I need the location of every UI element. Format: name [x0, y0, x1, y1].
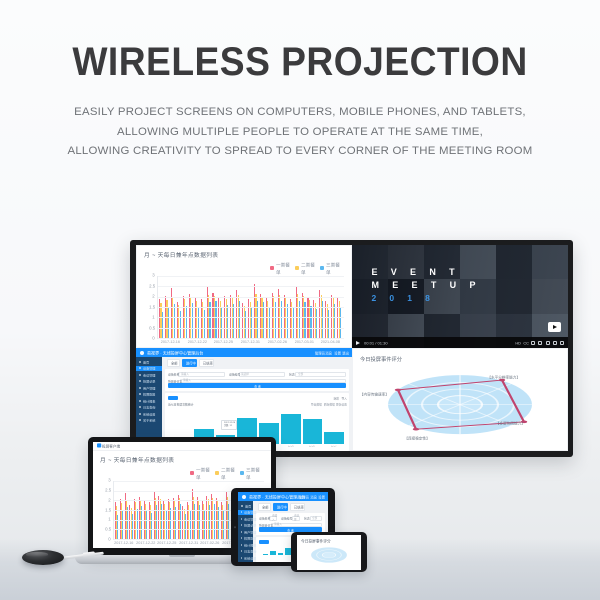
admin-card-action-0[interactable]: 新增	[334, 396, 339, 401]
radar-axis-label-1: 【内容传输速率】	[364, 392, 385, 396]
filter-field-label: 设备编号	[229, 372, 240, 377]
sidebar-item-label: 权限配置	[244, 536, 256, 541]
monitor-device: 月 ~ 天每日兼年点数据列表 一类餐单二类餐单三类餐单 32.521.510.5…	[130, 240, 573, 457]
radar-axis-label-text: 【内容传输速率】	[360, 391, 389, 397]
filter-field-0[interactable]: 设备名称请输入	[168, 372, 225, 377]
sidebar-item-label: 统计报表	[143, 398, 155, 403]
chart-bar	[180, 311, 181, 338]
sidebar-item-7[interactable]: 日志查询	[139, 405, 162, 411]
sidebar-item-label: 首页	[245, 503, 251, 508]
chart-bar	[151, 513, 152, 539]
sidebar-item-icon	[139, 387, 141, 389]
chart-bar	[127, 507, 128, 539]
filter-field-label: 状态	[289, 372, 295, 377]
video-title-line-2: M E E T U P	[371, 279, 480, 292]
hero-subtitle-line-3: ALLOWING CREATIVITY TO SPREAD TO EVERY C…	[0, 142, 600, 162]
sidebar-item-9[interactable]: 关于系统	[139, 418, 162, 424]
radar-chart-area: 【水平分辨率能力】【内容传输速率】【多屏协同能力】【连接稳定性】	[360, 362, 560, 444]
admin-chart-bar	[270, 551, 275, 555]
sidebar-item-icon	[139, 374, 141, 376]
chart-bar	[186, 306, 187, 338]
y-tick-label: 1	[109, 517, 111, 523]
legend-label: 一类餐单	[196, 466, 213, 481]
sidebar-item-icon	[241, 511, 242, 513]
chart-bar	[166, 511, 167, 539]
sidebar-item-label: 设备管理	[244, 510, 256, 515]
sidebar-item-1[interactable]: 设备管理	[136, 366, 162, 372]
admin-topbar-item-2[interactable]: 设置	[334, 350, 341, 355]
chart-bar	[218, 507, 219, 539]
filter-field-label: 所属会议室	[259, 522, 273, 527]
chart-bar	[204, 310, 205, 338]
legend-label: 三类餐单	[246, 466, 263, 481]
tablet-admin-topbar-actions[interactable]: 管理员消息设置	[300, 495, 324, 499]
gridline	[158, 328, 344, 329]
filter-field-input[interactable]: 请输入	[271, 523, 322, 528]
legend-swatch	[295, 266, 299, 270]
legend-label: 二类餐单	[301, 261, 318, 276]
admin-card-subtitle: 近七日投屏次数统计	[168, 401, 194, 406]
admin-stats-header: 新增导入	[168, 396, 346, 400]
chart-bar	[117, 515, 118, 539]
phone-radar-area	[301, 543, 357, 567]
tab-2[interactable]: 已结束	[199, 359, 214, 367]
gridline	[158, 307, 344, 308]
legend-item-1[interactable]: 二类餐单	[215, 468, 233, 478]
admin-topbar-item-0[interactable]: 管理员	[314, 350, 324, 355]
tab-label: 进行中	[186, 360, 196, 365]
admin-chart-bar	[263, 554, 268, 555]
admin-filter-card: 设备名称请输入设备编号请选择状态全部所属会议室请输入 查 询	[165, 369, 349, 391]
dongle-puck	[22, 550, 64, 565]
hero-subtitle-line-2: ALLOWING MULTIPLE PEOPLE TO OPERATE AT T…	[0, 123, 600, 143]
primary-action-pill[interactable]	[168, 396, 178, 400]
wireless-dongle-device	[22, 545, 126, 573]
brand-logo-icon	[140, 351, 144, 355]
tablet-camera-icon	[234, 526, 236, 528]
radar-axis-label-text: 【连接稳定性】	[404, 435, 429, 441]
sidebar-item-label: 关于系统	[143, 418, 155, 423]
legend-item-1[interactable]: 二类餐单	[295, 263, 313, 273]
tab-0[interactable]: 全部	[167, 359, 180, 367]
tablet-admin-tabs[interactable]: 全部进行中已结束	[256, 503, 325, 511]
video-title-line-1: E V E N T	[371, 266, 480, 279]
chart-bar	[175, 507, 176, 539]
y-tick-label: 0.5	[105, 526, 111, 532]
sidebar-item-label: 统计报表	[244, 542, 256, 547]
gridline	[158, 286, 344, 287]
sidebar-item-icon	[139, 367, 141, 369]
chart-bar	[340, 307, 341, 338]
tablet-brand-logo-icon	[242, 495, 246, 499]
cc-icon[interactable]: CC	[523, 340, 529, 345]
video-title-overlay: E V E N T M E E T U P 2 0 1 8	[371, 266, 480, 305]
tablet-admin-sidebar[interactable]: 首页设备管理会议管理投屏记录用户管理权限配置统计报表日志查询系统设置	[238, 501, 253, 562]
pip-icon[interactable]	[553, 341, 557, 345]
admin-chart-bar	[324, 432, 344, 444]
hero-subtitle: EASILY PROJECT SCREENS ON COMPUTERS, MOB…	[0, 103, 600, 162]
chart-bar	[245, 311, 246, 338]
panel-admin-dashboard: 易视界 · 无线投屏中心管理后台 管理员消息设置退出 首页设备管理会议管理投屏记…	[136, 348, 352, 451]
sidebar-item-icon	[139, 380, 141, 382]
sidebar-item-8[interactable]: 系统设置	[139, 411, 162, 417]
gridline	[114, 481, 264, 482]
sidebar-item-icon	[241, 550, 242, 552]
video-timestamp: 00:01 / 01:30	[364, 340, 388, 345]
tab-label: 全部	[171, 360, 177, 365]
settings-icon[interactable]	[538, 341, 542, 345]
sidebar-item-label: 用户管理	[143, 385, 155, 390]
admin-topbar-actions[interactable]: 管理员消息设置退出	[316, 351, 348, 355]
filter-field-placeholder: 请输入	[274, 523, 282, 527]
tablet-admin-filter-form[interactable]: 设备名称请输入设备编号请选择状态全部所属会议室请输入	[259, 516, 322, 527]
tab-2[interactable]: 已结束	[290, 503, 305, 511]
sidebar-item-icon	[241, 518, 242, 520]
sidebar-item-4[interactable]: 用户管理	[241, 529, 253, 535]
laptop-app-titlebar: 投屏客户端	[93, 442, 271, 451]
sidebar-item-label: 系统设置	[244, 555, 256, 560]
video-brand-logo-icon	[548, 322, 561, 332]
sidebar-item-icon	[241, 557, 242, 559]
y-tick-label: 2.5	[105, 487, 111, 493]
admin-card-right-label-2[interactable]: 更多设置	[336, 402, 347, 407]
admin-chart-label: 12-27	[320, 446, 347, 449]
chart-bar	[174, 304, 175, 338]
video-control-bar[interactable]: 00:01 / 01:30 HD CC	[352, 337, 568, 348]
bar-chart-legend: 一类餐单二类餐单三类餐单	[144, 263, 344, 273]
tablet-admin-topbar-item-2[interactable]: 设置	[318, 494, 325, 499]
chart-bar	[190, 511, 191, 539]
y-tick-label: 1.5	[149, 304, 155, 310]
legend-label: 一类餐单	[276, 261, 293, 276]
laptop-bar-chart-legend: 一类餐单二类餐单三类餐单	[100, 468, 264, 478]
sidebar-item-label: 用户管理	[244, 529, 256, 534]
filter-field-label: 设备名称	[259, 516, 270, 521]
sidebar-item-icon	[139, 419, 141, 421]
filter-field-label: 设备编号	[281, 516, 292, 521]
legend-item-0[interactable]: 一类餐单	[270, 263, 288, 273]
chart-bar	[168, 307, 169, 338]
phone-device: 今日投屏事件评分	[291, 532, 367, 572]
filter-field-input[interactable]: 请选择	[292, 516, 300, 521]
laptop-bar-chart-y-axis: 32.521.510.50	[100, 481, 113, 540]
admin-chart-bar	[281, 414, 301, 444]
chart-bar	[310, 306, 311, 338]
tablet-primary-action-pill[interactable]	[259, 540, 269, 544]
legend-label: 三类餐单	[326, 261, 343, 276]
y-tick-label: 3	[109, 477, 111, 483]
admin-topbar: 易视界 · 无线投屏中心管理后台 管理员消息设置退出	[136, 348, 352, 357]
sidebar-item-label: 日志查询	[143, 405, 155, 410]
filter-field-placeholder: 全部	[298, 372, 303, 376]
chart-bar	[227, 305, 228, 338]
y-tick-label: 2.5	[149, 283, 155, 289]
admin-tabs[interactable]: 全部进行中已结束	[165, 359, 349, 367]
chart-bar	[122, 510, 123, 539]
admin-brand: 易视界 · 无线投屏中心管理后台	[147, 350, 203, 356]
admin-card-right-labels[interactable]: 导出数据刷新数据更多设置	[312, 402, 346, 406]
chart-tooltip: 2017-12-26 次数: 12	[221, 420, 236, 429]
filter-field-placeholder: 请选择	[294, 514, 300, 522]
tablet-admin-brand: 易视界 · 无线投屏中心管理后台	[249, 494, 305, 500]
filter-field-1[interactable]: 设备编号请选择	[229, 372, 286, 377]
chart-bar	[334, 304, 335, 338]
chart-bar	[316, 309, 317, 338]
chart-bar	[146, 510, 147, 539]
legend-swatch	[190, 471, 194, 475]
sidebar-item-icon	[139, 393, 141, 395]
sidebar-item-3[interactable]: 投屏记录	[139, 379, 162, 385]
tab-1[interactable]: 进行中	[182, 359, 197, 367]
sidebar-item-icon	[241, 505, 243, 507]
admin-chart-bar	[303, 419, 323, 444]
sidebar-item-3[interactable]: 投屏记录	[241, 523, 253, 529]
filter-field-placeholder: 请输入	[181, 372, 189, 376]
sidebar-item-2[interactable]: 会议管理	[139, 372, 162, 378]
admin-chart-bar	[285, 548, 290, 555]
chart-bar	[137, 509, 138, 539]
chart-bar	[141, 506, 142, 539]
filter-field-1[interactable]: 设备编号请选择	[281, 516, 299, 521]
laptop-app-title: 投屏客户端	[102, 443, 120, 449]
panel-radar-chart: 今日投屏事件评分	[352, 348, 568, 451]
radar-svg	[360, 362, 560, 444]
sidebar-item-label: 会议管理	[244, 516, 256, 521]
sidebar-item-label: 系统设置	[143, 411, 155, 416]
y-tick-label: 1	[153, 314, 155, 320]
video-title-line-3: 2 0 1 8	[371, 292, 480, 305]
sidebar-item-label: 日志查询	[244, 549, 256, 554]
sidebar-item-label: 权限配置	[143, 392, 155, 397]
sidebar-item-6[interactable]: 统计报表	[139, 398, 162, 404]
filter-field-label: 设备名称	[168, 372, 179, 377]
y-tick-label: 3	[153, 272, 155, 278]
filter-field-placeholder: 全部	[312, 516, 317, 520]
sidebar-item-1[interactable]: 设备管理	[238, 510, 253, 516]
tab-0[interactable]: 全部	[258, 503, 271, 511]
device-scene: 月 ~ 天每日兼年点数据列表 一类餐单二类餐单三类餐单 32.521.510.5…	[0, 215, 600, 600]
chart-bar	[192, 303, 193, 338]
admin-stats-subtitle-row: 近七日投屏次数统计 导出数据刷新数据更多设置	[168, 402, 346, 406]
tablet-admin-topbar: 易视界 · 无线投屏中心管理后台 管理员消息设置	[238, 492, 328, 501]
sidebar-item-0[interactable]: 首页	[139, 359, 162, 365]
chart-bar	[233, 304, 234, 338]
sidebar-item-icon	[241, 531, 242, 533]
chart-bar	[185, 514, 186, 539]
gridline	[158, 338, 344, 339]
radar-axis-label-2: 【多屏协同能力】	[500, 421, 521, 425]
legend-item-2[interactable]: 三类餐单	[320, 263, 338, 273]
tab-label: 进行中	[277, 504, 287, 509]
search-button[interactable]: 查 询	[168, 383, 346, 388]
chart-bar	[328, 310, 329, 338]
legend-item-2[interactable]: 三类餐单	[240, 468, 258, 478]
tab-1[interactable]: 进行中	[273, 503, 288, 511]
fullscreen-icon[interactable]	[560, 341, 564, 345]
laptop-notch	[169, 555, 195, 557]
chart-bar	[204, 510, 205, 539]
sidebar-item-icon	[241, 544, 242, 546]
gridline	[158, 317, 344, 318]
x-tick-label: 2021-04-08	[312, 340, 349, 344]
sidebar-item-icon	[241, 524, 242, 526]
hero-subtitle-line-1: EASILY PROJECT SCREENS ON COMPUTERS, MOB…	[0, 103, 600, 123]
tooltip-value: 次数: 12	[224, 425, 235, 428]
admin-card-right-label-0[interactable]: 导出数据	[311, 402, 322, 407]
bar-chart-plot: 32.521.510.50	[144, 276, 344, 339]
admin-topbar-item-1[interactable]: 消息	[326, 350, 333, 355]
panel-video-player[interactable]: E V E N T M E E T U P 2 0 1 8 00:01 / 01…	[352, 245, 568, 348]
radar-axis-label-3: 【连接稳定性】	[408, 436, 426, 440]
chart-bar	[198, 307, 199, 338]
volume-icon[interactable]	[531, 341, 535, 345]
chart-bar	[287, 304, 288, 338]
dongle-usb-plug	[83, 551, 96, 557]
sidebar-item-label: 首页	[143, 359, 149, 364]
y-tick-label: 2	[109, 497, 111, 503]
legend-swatch	[320, 266, 324, 270]
bar-chart-area	[157, 276, 344, 339]
sidebar-item-7[interactable]: 日志查询	[241, 549, 253, 555]
tab-label: 已结束	[294, 504, 304, 509]
tablet-search-button-label: 查 询	[287, 527, 293, 532]
filter-field-input[interactable]: 全部	[295, 372, 346, 377]
tablet-admin-topbar-item-0[interactable]: 管理员	[299, 494, 309, 499]
sidebar-item-5[interactable]: 权限配置	[139, 392, 162, 398]
filter-field-placeholder: 请选择	[241, 372, 249, 376]
filter-field-3[interactable]: 所属会议室请输入	[168, 379, 346, 384]
bar-chart-x-axis: 2017-12-162017-12-222017-12-252017-12-31…	[157, 340, 344, 343]
admin-chart-bar	[278, 553, 283, 555]
phone-screen: 今日投屏事件评分	[297, 535, 361, 570]
legend-item-0[interactable]: 一类餐单	[190, 468, 208, 478]
sidebar-item-icon	[241, 537, 242, 539]
admin-card-action-1[interactable]: 导入	[341, 396, 346, 401]
chart-bar	[162, 312, 163, 338]
sidebar-item-icon	[139, 406, 141, 408]
radar-axis-label-text: 【多屏协同能力】	[496, 420, 525, 426]
legend-swatch	[270, 266, 274, 270]
tab-label: 全部	[262, 504, 268, 509]
sidebar-item-5[interactable]: 权限配置	[241, 536, 253, 542]
sidebar-item-icon	[139, 413, 141, 415]
panel-bar-chart: 月 ~ 天每日兼年点数据列表 一类餐单二类餐单三类餐单 32.521.510.5…	[136, 245, 352, 348]
sidebar-item-label: 投屏记录	[244, 523, 256, 528]
legend-swatch	[215, 471, 219, 475]
chart-bar	[132, 514, 133, 539]
sidebar-item-icon	[139, 400, 141, 402]
phone-radar-svg	[301, 543, 357, 567]
play-icon[interactable]	[356, 341, 360, 345]
theater-icon[interactable]	[546, 341, 550, 345]
filter-field-2[interactable]: 状态全部	[289, 372, 346, 377]
monitor-screen: 月 ~ 天每日兼年点数据列表 一类餐单二类餐单三类餐单 32.521.510.5…	[136, 245, 568, 451]
sidebar-item-2[interactable]: 会议管理	[241, 516, 253, 522]
legend-label: 二类餐单	[221, 466, 238, 481]
filter-field-placeholder: 请输入	[272, 514, 278, 522]
bar-chart-title: 月 ~ 天每日兼年点数据列表	[144, 252, 352, 263]
sidebar-item-label: 投屏记录	[143, 379, 155, 384]
chart-bar	[221, 308, 222, 338]
chart-bar	[269, 307, 270, 338]
radar-axis-label-text: 【水平分辨率能力】	[487, 374, 520, 380]
hd-icon[interactable]: HD	[516, 340, 522, 345]
filter-field-input[interactable]: 全部	[310, 516, 322, 521]
filter-field-label: 所属会议室	[168, 378, 182, 383]
filter-field-2[interactable]: 状态全部	[304, 516, 322, 521]
admin-topbar-item-3[interactable]: 退出	[342, 350, 349, 355]
radar-axis-label-0: 【水平分辨率能力】	[492, 375, 515, 379]
filter-field-input[interactable]: 请输入	[178, 372, 224, 377]
chart-bar	[251, 308, 252, 338]
admin-card-right-label-1[interactable]: 刷新数据	[323, 402, 334, 407]
search-button-label: 查 询	[254, 383, 260, 388]
filter-field-3[interactable]: 所属会议室请输入	[259, 523, 322, 528]
admin-stats-actions[interactable]: 新增导入	[334, 396, 346, 400]
phone-notch	[321, 532, 337, 535]
chart-bar	[170, 508, 171, 539]
filter-field-label: 状态	[304, 516, 310, 521]
hero-section: WIRELESS PROJECTION EASILY PROJECT SCREE…	[0, 0, 600, 162]
chart-bar	[293, 308, 294, 338]
filter-field-input[interactable]: 请选择	[239, 372, 285, 377]
video-control-icons[interactable]: HD CC	[516, 341, 564, 345]
sidebar-item-icon	[139, 361, 141, 363]
sidebar-item-6[interactable]: 统计报表	[241, 542, 253, 548]
sidebar-item-label: 设备管理	[143, 366, 155, 371]
filter-field-0[interactable]: 设备名称请输入	[259, 516, 277, 521]
y-tick-label: 2	[153, 293, 155, 299]
sidebar-item-8[interactable]: 系统设置	[241, 555, 253, 561]
filter-field-placeholder: 请输入	[183, 379, 191, 383]
legend-swatch	[240, 471, 244, 475]
admin-filter-form[interactable]: 设备名称请输入设备编号请选择状态全部所属会议室请输入	[168, 372, 346, 383]
gridline	[158, 276, 344, 277]
chart-bar	[223, 511, 224, 539]
page-title: WIRELESS PROJECTION	[21, 40, 579, 85]
y-tick-label: 0.5	[149, 325, 155, 331]
sidebar-item-4[interactable]: 用户管理	[139, 385, 162, 391]
bar-chart-y-axis: 32.521.510.50	[144, 276, 157, 339]
y-tick-label: 1.5	[105, 507, 111, 513]
tablet-admin-topbar-item-1[interactable]: 消息	[310, 494, 317, 499]
sidebar-item-label: 会议管理	[143, 372, 155, 377]
tab-label: 已结束	[203, 360, 213, 365]
phone-panel-radar-chart: 今日投屏事件评分	[297, 535, 361, 570]
sidebar-item-0[interactable]: 首页	[241, 503, 253, 509]
filter-field-input[interactable]: 请输入	[180, 379, 346, 384]
gridline	[158, 297, 344, 298]
